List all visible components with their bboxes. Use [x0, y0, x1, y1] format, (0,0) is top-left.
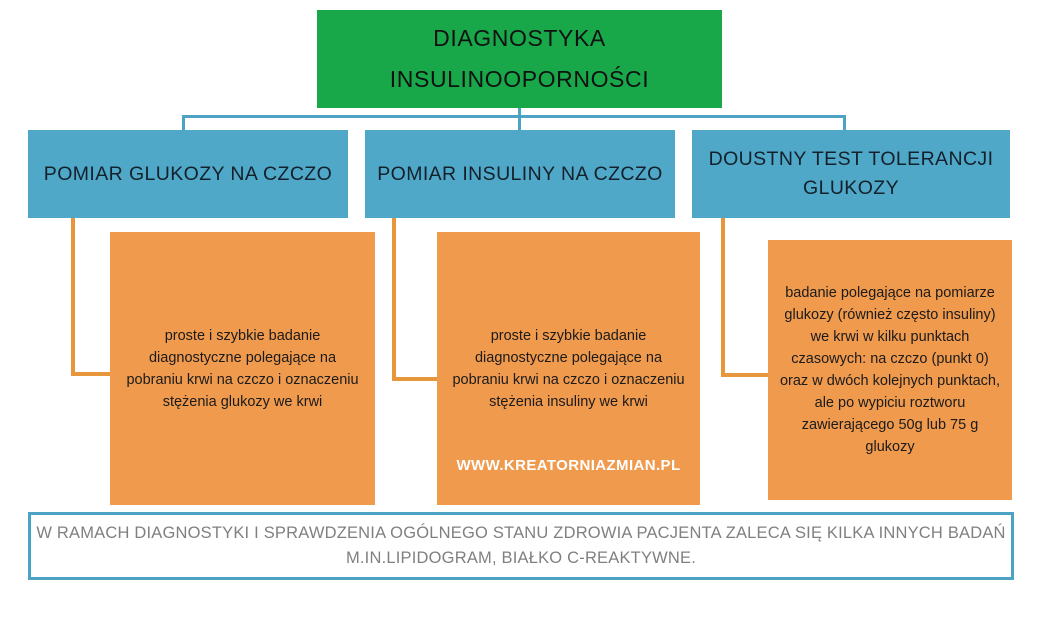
diagram-title-line-2: INSULINOOPORNOŚCI: [390, 59, 649, 100]
description-line: proste i szybkie badanie: [491, 325, 647, 347]
connector-blue-drop-left: [182, 115, 185, 131]
connector-elbow-1-vertical: [71, 218, 75, 376]
method-box-glucose-fasting[interactable]: POMIAR GLUKOZY NA CZCZO: [28, 130, 348, 218]
description-box-oral-glucose-tolerance: badanie polegające na pomiarze glukozy (…: [768, 240, 1012, 500]
footer-note-line-2: M.IN.LIPIDOGRAM, BIAŁKO C-REAKTYWNE.: [346, 546, 696, 571]
description-line: glukozy (również często insuliny): [784, 304, 995, 326]
description-line: we krwi w kilku punktach: [811, 326, 970, 348]
description-line: glukozy: [865, 436, 914, 458]
description-line: diagnostyczne polegające na: [475, 347, 662, 369]
description-line: stężenia glukozy we krwi: [163, 391, 323, 413]
description-line: zawierającego 50g lub 75 g: [802, 414, 979, 436]
description-box-insulin-fasting: proste i szybkie badanie diagnostyczne p…: [437, 232, 700, 505]
diagram-title-line-1: DIAGNOSTYKA: [433, 18, 606, 59]
description-line: pobraniu krwi na czczo i oznaczeniu: [452, 369, 684, 391]
description-line: proste i szybkie badanie: [165, 325, 321, 347]
description-line: ale po wypiciu roztworu: [815, 392, 966, 414]
diagram-title-box: DIAGNOSTYKA INSULINOOPORNOŚCI: [317, 10, 722, 108]
description-line: diagnostyczne polegające na: [149, 347, 336, 369]
method-box-oral-glucose-tolerance[interactable]: DOUSTNY TEST TOLERANCJI GLUKOZY: [692, 130, 1010, 218]
description-line: czasowych: na czczo (punkt 0): [791, 348, 988, 370]
method-label: DOUSTNY TEST TOLERANCJI GLUKOZY: [704, 145, 998, 203]
method-label: POMIAR INSULINY NA CZCZO: [377, 160, 663, 189]
connector-blue-horizontal: [182, 115, 846, 118]
description-line: stężenia insuliny we krwi: [489, 391, 648, 413]
description-line: badanie polegające na pomiarze: [785, 282, 995, 304]
connector-elbow-2-vertical: [392, 218, 396, 381]
diagram-canvas: DIAGNOSTYKA INSULINOOPORNOŚCI POMIAR GLU…: [0, 0, 1062, 624]
description-line: pobraniu krwi na czczo i oznaczeniu: [126, 369, 358, 391]
description-line: oraz w dwóch kolejnych punktach,: [780, 370, 1000, 392]
connector-elbow-1-horizontal: [71, 372, 113, 376]
method-box-insulin-fasting[interactable]: POMIAR INSULINY NA CZCZO: [365, 130, 675, 218]
connector-blue-drop-right: [843, 115, 846, 131]
connector-elbow-3-horizontal: [721, 373, 771, 377]
footer-note-banner: W RAMACH DIAGNOSTYKI I SPRAWDZENIA OGÓLN…: [28, 512, 1014, 580]
method-label: POMIAR GLUKOZY NA CZCZO: [44, 160, 332, 189]
footer-note-line-1: W RAMACH DIAGNOSTYKI I SPRAWDZENIA OGÓLN…: [36, 521, 1005, 546]
connector-elbow-2-horizontal: [392, 377, 440, 381]
connector-title-stem: [518, 108, 521, 130]
connector-elbow-3-vertical: [721, 218, 725, 377]
website-watermark: WWW.KREATORNIAZMIAN.PL: [437, 457, 700, 474]
description-box-glucose-fasting: proste i szybkie badanie diagnostyczne p…: [110, 232, 375, 505]
